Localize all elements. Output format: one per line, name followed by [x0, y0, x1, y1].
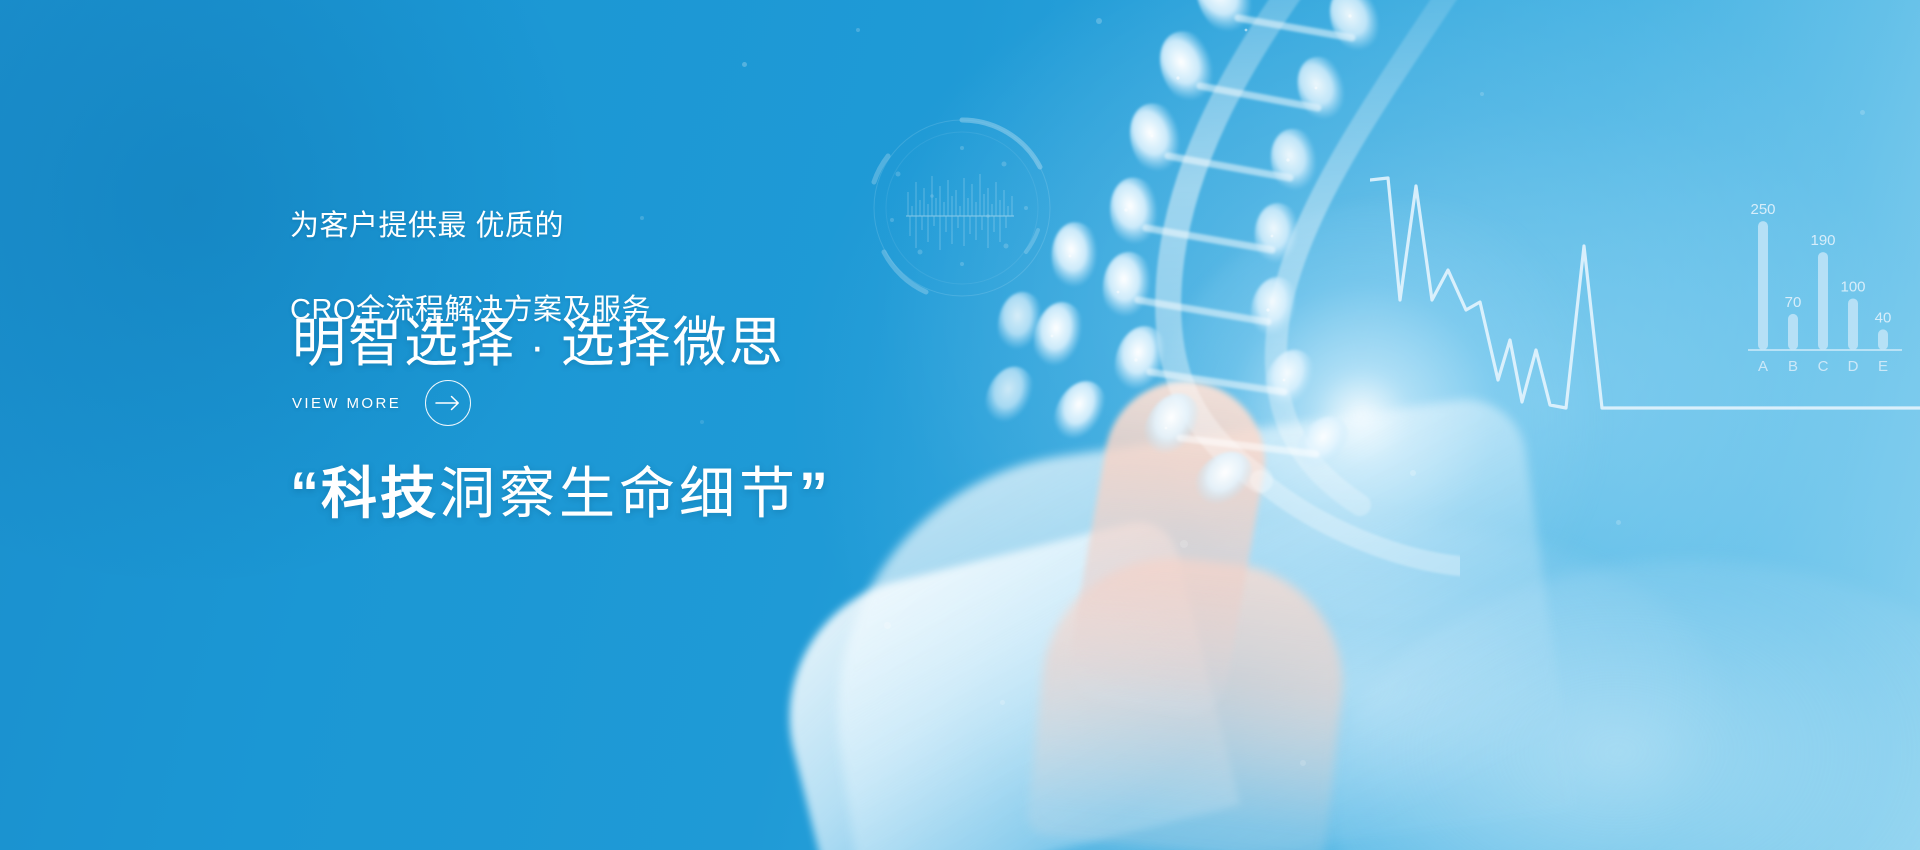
view-more-label: VIEW MORE: [292, 395, 401, 412]
chart-value-label: 190: [1810, 232, 1835, 249]
hero-quote: “科技洞察生命细节”: [290, 455, 830, 533]
chart-category-label: C: [1818, 358, 1829, 375]
chart-value-label: 70: [1785, 294, 1802, 311]
chart-category-label: A: [1758, 358, 1768, 375]
hero-headline: 明智选择·选择微思: [292, 308, 785, 382]
hero-banner: 250A70B190C100D40E 为客户提供最 优质的 CRO全流程解决方案…: [0, 0, 1920, 850]
hero-headline-left: 明智选择: [292, 313, 516, 373]
quote-light-text: 洞察生命细节: [439, 462, 799, 525]
hero-headline-right: 选择微思: [561, 313, 785, 373]
chart-value-label: 250: [1750, 201, 1775, 218]
hero-content: 为客户提供最 优质的 CRO全流程解决方案及服务 明智选择·选择微思 VIEW …: [290, 0, 1050, 850]
bar-chart-svg: 250A70B190C100D40E: [1742, 182, 1920, 387]
quote-strong-text: 科技: [321, 462, 439, 525]
arrow-right-icon[interactable]: [425, 380, 471, 426]
chart-bar: [1818, 252, 1828, 350]
chart-value-label: 100: [1840, 278, 1865, 295]
view-more-button[interactable]: VIEW MORE: [292, 380, 471, 426]
chart-bar: [1758, 221, 1768, 350]
quote-close-mark: ”: [799, 461, 830, 526]
chart-category-label: E: [1878, 358, 1888, 375]
chart-bar: [1878, 329, 1888, 350]
chart-bar: [1788, 314, 1798, 350]
bar-chart: 250A70B190C100D40E: [1742, 182, 1920, 387]
quote-open-mark: “: [290, 461, 321, 526]
chart-value-label: 40: [1875, 309, 1892, 326]
chart-category-label: B: [1788, 358, 1798, 375]
chart-bar: [1848, 298, 1858, 350]
hero-headline-separator: ·: [516, 322, 561, 371]
ecg-heartbeat-line-icon: [1370, 150, 1920, 430]
hero-kicker-line-1: 为客户提供最 优质的: [290, 205, 651, 247]
chart-category-label: D: [1848, 358, 1859, 375]
